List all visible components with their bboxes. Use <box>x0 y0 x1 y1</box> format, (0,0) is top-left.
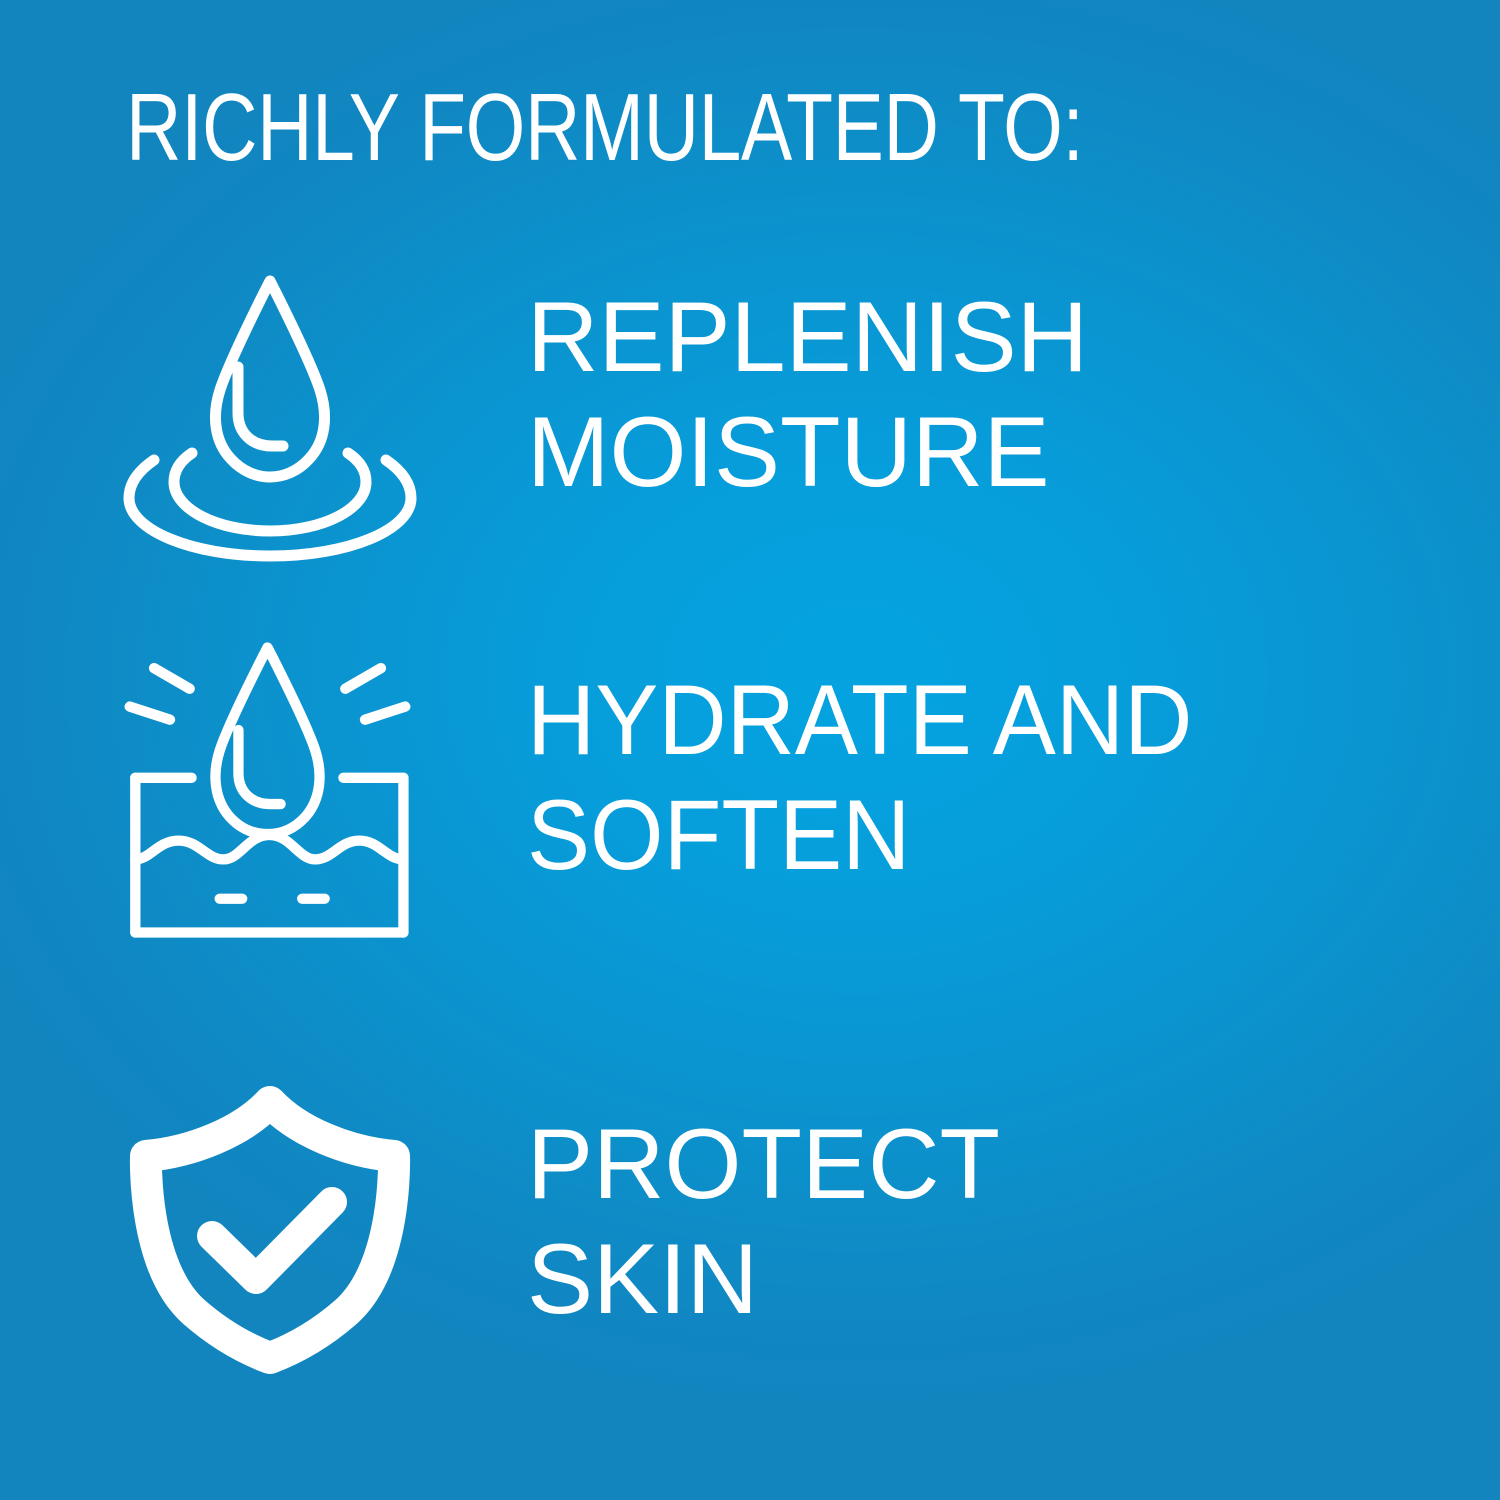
benefit-label-hydrate-soften: HYDRATE AND SOFTEN <box>527 662 1192 892</box>
benefit-row-replenish-moisture: REPLENISH MOISTURE <box>0 255 1500 585</box>
water-droplet-ripples-icon <box>120 255 430 555</box>
droplet-skin-layer-icon <box>120 640 430 940</box>
benefit-label-replenish-moisture: REPLENISH MOISTURE <box>527 279 1088 509</box>
benefit-row-hydrate-soften: HYDRATE AND SOFTEN <box>0 640 1500 970</box>
product-benefits-panel: RICHLY FORMULATED TO: REPLENISH MOISTURE <box>0 0 1500 1500</box>
shield-check-icon <box>120 1080 430 1380</box>
benefit-label-protect-skin: PROTECT SKIN <box>527 1106 1000 1336</box>
benefit-row-protect-skin: PROTECT SKIN <box>0 1080 1500 1410</box>
page-title: RICHLY FORMULATED TO: <box>126 80 1086 176</box>
